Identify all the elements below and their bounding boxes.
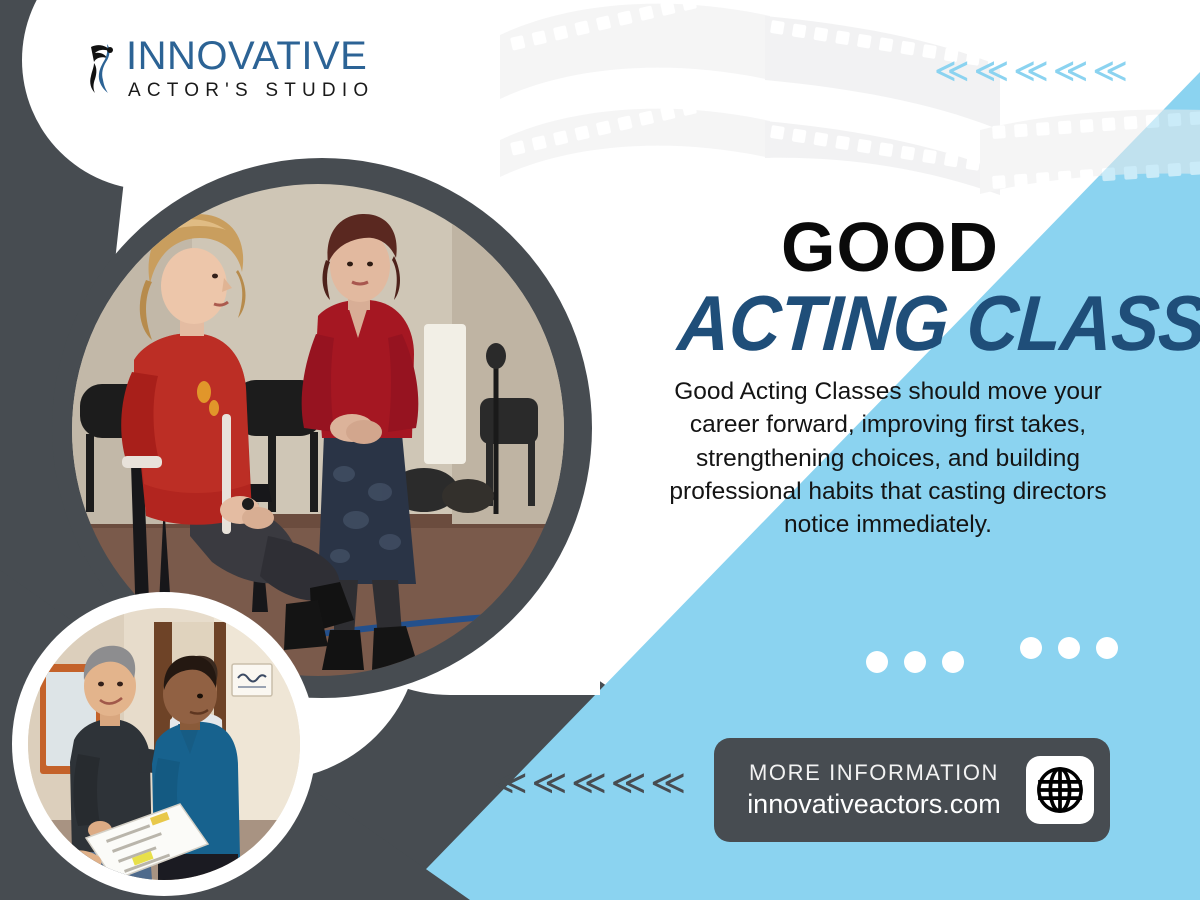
chevron-left-icon: ≪ <box>974 54 1010 88</box>
dancer-figure-icon <box>86 41 120 95</box>
dot-icon <box>1020 637 1042 659</box>
chevron-left-icon: ≪ <box>934 54 970 88</box>
chevron-left-icon: ≪ <box>1013 54 1049 88</box>
decorative-dots-right <box>1020 637 1118 659</box>
globe-icon-glyph <box>1035 765 1085 815</box>
photo-instructor-with-students-image <box>28 608 300 880</box>
decorative-chevrons-top-right: ≪ ≪ ≪ ≪ ≪ <box>934 54 1128 88</box>
body-paragraph: Good Acting Classes should move your car… <box>662 375 1114 542</box>
chevron-left-icon: ≪ <box>492 766 528 800</box>
dot-icon <box>866 651 888 673</box>
cta-label: MORE INFORMATION <box>749 760 999 786</box>
chevron-left-icon: ≪ <box>650 766 686 800</box>
chevron-left-icon: ≪ <box>532 766 568 800</box>
headline-block: GOOD ACTING CLASSES <box>660 212 1120 362</box>
dot-icon <box>904 651 926 673</box>
brand-logo[interactable]: INNOVATIVE ACTOR'S STUDIO <box>86 36 374 100</box>
promotional-poster: INNOVATIVE ACTOR'S STUDIO ≪ ≪ ≪ ≪ ≪ GOOD… <box>0 0 1200 900</box>
decorative-chevrons-bottom: ≪ ≪ ≪ ≪ ≪ <box>492 766 686 800</box>
cta-text-block: MORE INFORMATION innovativeactors.com <box>736 760 1012 820</box>
dot-icon <box>1058 637 1080 659</box>
chevron-left-icon: ≪ <box>1092 54 1128 88</box>
decorative-dots-left <box>866 651 964 673</box>
globe-icon[interactable] <box>1026 756 1094 824</box>
chevron-left-icon: ≪ <box>571 766 607 800</box>
cta-website-url: innovativeactors.com <box>747 789 1001 820</box>
photo-instructor-with-students <box>12 592 316 896</box>
chevron-left-icon: ≪ <box>611 766 647 800</box>
dot-icon <box>1096 637 1118 659</box>
more-information-cta[interactable]: MORE INFORMATION innovativeactors.com <box>714 738 1110 842</box>
headline-line-1: GOOD <box>660 212 1120 282</box>
chevron-left-icon: ≪ <box>1053 54 1089 88</box>
logo-title: INNOVATIVE <box>126 36 374 76</box>
headline-line-2: ACTING CLASSES <box>676 284 1104 362</box>
logo-tagline: ACTOR'S STUDIO <box>126 81 374 100</box>
dot-icon <box>942 651 964 673</box>
